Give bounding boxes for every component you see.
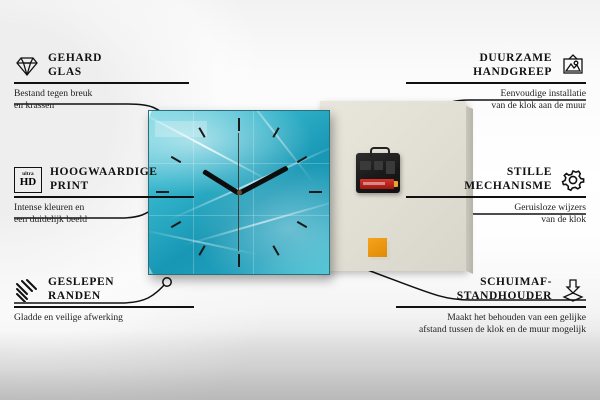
battery bbox=[360, 179, 394, 189]
picture-hanger-icon bbox=[560, 54, 586, 78]
divider bbox=[14, 306, 194, 308]
feature-title-line1: GEHARD bbox=[48, 52, 102, 66]
feature-hoogwaardige-print: ultra HD HOOGWAARDIGE PRINT Intense kleu… bbox=[14, 166, 194, 226]
feature-title-line2: GLAS bbox=[48, 66, 102, 80]
gear-icon bbox=[560, 168, 586, 192]
feature-desc-line1: Geruisloze wijzers bbox=[406, 202, 586, 214]
feature-title-line2: MECHANISME bbox=[464, 180, 552, 194]
divider bbox=[406, 196, 586, 198]
feature-desc-line2: en krassen bbox=[14, 100, 189, 112]
mechanism-slot bbox=[374, 161, 383, 170]
minute-hand bbox=[238, 165, 289, 195]
feature-desc-line1: Gladde en veilige afwerking bbox=[14, 312, 194, 324]
feature-desc-line1: Eenvoudige installatie bbox=[406, 88, 586, 100]
feature-schuimafstandhouder: SCHUIMAF- STANDHOUDER Maakt het behouden… bbox=[396, 276, 586, 336]
feature-desc-line2: afstand tussen de klok en de muur mogeli… bbox=[396, 324, 586, 336]
feature-desc-line1: Bestand tegen breuk bbox=[14, 88, 189, 100]
bottom-shadow bbox=[0, 330, 600, 400]
feature-gehard-glas: GEHARD GLAS Bestand tegen breuk en krass… bbox=[14, 52, 189, 112]
divider bbox=[14, 196, 194, 198]
feature-desc-line2: een duidelijk beeld bbox=[14, 214, 194, 226]
feature-title-line1: HOOGWAARDIGE bbox=[50, 166, 158, 180]
feature-title-line1: GESLEPEN bbox=[48, 276, 114, 290]
feature-desc-line2: van de klok aan de muur bbox=[406, 100, 586, 112]
foam-spacer bbox=[368, 238, 387, 257]
hour-hand bbox=[202, 169, 240, 195]
clock-center-pin bbox=[237, 190, 242, 195]
feature-title-line2: RANDEN bbox=[48, 290, 114, 304]
mechanism-slot bbox=[386, 161, 395, 174]
feature-title-line2: PRINT bbox=[50, 180, 158, 194]
feature-desc-line1: Intense kleuren en bbox=[14, 202, 194, 214]
divider bbox=[396, 306, 586, 308]
feature-title-line2: HANDGREEP bbox=[473, 66, 552, 80]
divider bbox=[406, 82, 586, 84]
diamond-icon bbox=[14, 54, 40, 78]
clock-mechanism bbox=[356, 153, 400, 193]
beveled-edges-icon bbox=[14, 278, 40, 302]
feature-desc-line2: van de klok bbox=[406, 214, 586, 226]
feature-title-line2: STANDHOUDER bbox=[457, 290, 552, 304]
badge-bottom-label: HD bbox=[20, 177, 37, 188]
feature-title-line1: STILLE bbox=[464, 166, 552, 180]
divider bbox=[14, 82, 189, 84]
feature-duurzame-handgreep: DUURZAME HANDGREEP Eenvoudige installati… bbox=[406, 52, 586, 112]
ultra-hd-badge-icon: ultra HD bbox=[14, 167, 42, 193]
feature-geslepen-randen: GESLEPEN RANDEN Gladde en veilige afwerk… bbox=[14, 276, 194, 324]
feature-stille-mechanisme: STILLE MECHANISME Geruisloze wijzers van… bbox=[406, 166, 586, 226]
foam-spacer-icon bbox=[560, 278, 586, 302]
feature-title-line1: DUURZAME bbox=[473, 52, 552, 66]
feature-desc-line1: Maakt het behouden van een gelijke bbox=[396, 312, 586, 324]
mechanism-slot bbox=[360, 161, 371, 170]
feature-title-line1: SCHUIMAF- bbox=[457, 276, 552, 290]
infographic-canvas: GEHARD GLAS Bestand tegen breuk en krass… bbox=[0, 0, 600, 400]
